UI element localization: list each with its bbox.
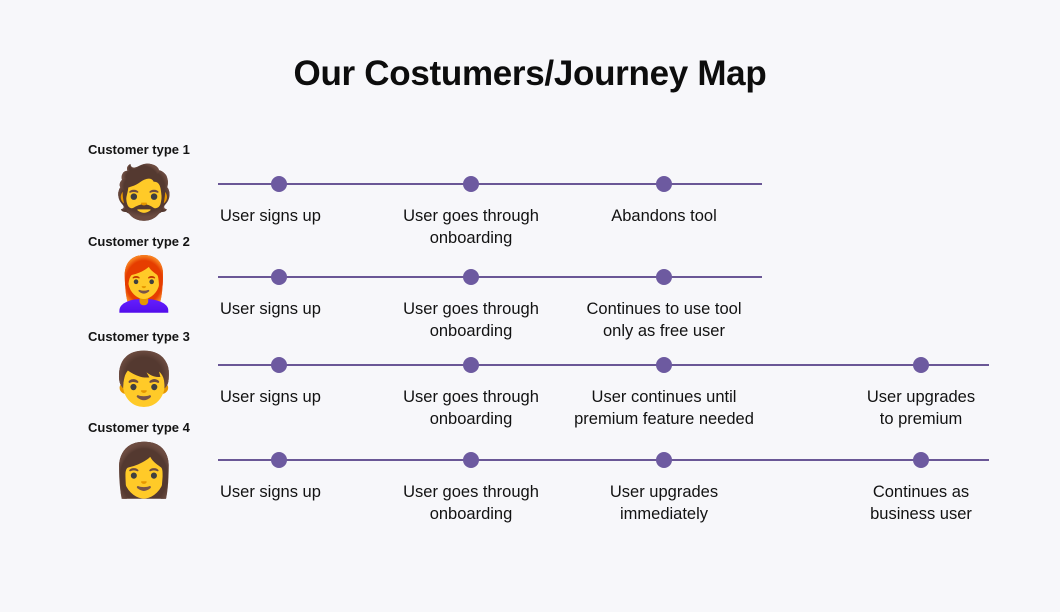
journey-node[interactable] [913, 357, 929, 373]
page-title: Our Costumers/Journey Map [0, 54, 1060, 94]
persona-2: Customer type 2👩‍🦰 [88, 235, 204, 315]
persona-4: Customer type 4👩 [88, 421, 204, 501]
persona-label: Customer type 2 [88, 235, 204, 249]
journey-node[interactable] [271, 452, 287, 468]
boy-emoji: 👦 [88, 350, 200, 410]
journey-step-label: User goes through onboarding [361, 298, 581, 342]
bearded-person-emoji: 🧔 [88, 163, 200, 223]
journey-node[interactable] [463, 269, 479, 285]
journey-node[interactable] [463, 176, 479, 192]
journey-step-label: User upgrades to premium [811, 386, 1031, 430]
journey-step-label: User goes through onboarding [361, 481, 581, 525]
journey-map-canvas: Our Costumers/Journey Map Customer type … [0, 0, 1060, 612]
journey-node[interactable] [271, 176, 287, 192]
journey-node[interactable] [656, 176, 672, 192]
journey-node[interactable] [656, 452, 672, 468]
journey-node[interactable] [656, 357, 672, 373]
journey-track [218, 459, 989, 461]
journey-node[interactable] [913, 452, 929, 468]
journey-step-label: User goes through onboarding [361, 205, 581, 249]
persona-3: Customer type 3👦 [88, 330, 204, 410]
journey-node[interactable] [271, 357, 287, 373]
red-haired-woman-emoji: 👩‍🦰 [88, 255, 200, 315]
journey-node[interactable] [463, 452, 479, 468]
persona-label: Customer type 1 [88, 143, 204, 157]
journey-step-label: User upgrades immediately [554, 481, 774, 525]
journey-step-label: User continues until premium feature nee… [554, 386, 774, 430]
persona-label: Customer type 3 [88, 330, 204, 344]
journey-track [218, 276, 762, 278]
journey-step-label: Abandons tool [554, 205, 774, 227]
persona-1: Customer type 1🧔 [88, 143, 204, 223]
journey-step-label: Continues as business user [811, 481, 1031, 525]
journey-track [218, 183, 762, 185]
journey-step-label: User goes through onboarding [361, 386, 581, 430]
journey-node[interactable] [271, 269, 287, 285]
woman-emoji: 👩 [88, 441, 200, 501]
journey-node[interactable] [656, 269, 672, 285]
journey-step-label: Continues to use tool only as free user [554, 298, 774, 342]
journey-node[interactable] [463, 357, 479, 373]
journey-track [218, 364, 989, 366]
persona-label: Customer type 4 [88, 421, 204, 435]
